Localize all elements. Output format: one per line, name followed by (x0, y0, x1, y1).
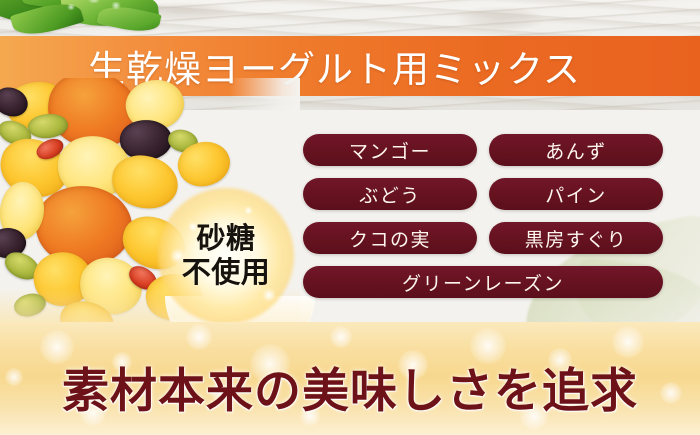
sugar-free-line-2: 不使用 (182, 256, 271, 290)
ingredient-pill-green-raisin: グリーンレーズン (303, 266, 663, 298)
bokeh-light (330, 326, 352, 348)
sugar-free-badge: 砂糖 不使用 (158, 188, 294, 324)
tagline-text: 素材本来の美味しさを追求 (0, 352, 700, 421)
ingredient-pill-goji: クコの実 (303, 222, 477, 254)
sugar-free-line-1: 砂糖 (196, 222, 255, 256)
tagline-band: 素材本来の美味しさを追求 (0, 322, 700, 435)
ingredient-list: マンゴー あんず ぶどう パイン クコの実 黒房すぐり グリーンレーズン (303, 134, 663, 298)
sugar-free-label: 砂糖 不使用 (158, 188, 294, 324)
ingredient-pill-mango: マンゴー (303, 134, 477, 166)
bokeh-light (186, 324, 212, 350)
ingredient-pill-blackcurrant: 黒房すぐり (489, 222, 663, 254)
wood-grain-knot (455, 6, 545, 32)
leaf-highlight (110, 2, 122, 9)
product-banner: 生乾燥ヨーグルト用ミックス (0, 0, 700, 435)
ingredient-pill-pineapple: パイン (489, 178, 663, 210)
ingredient-pill-apricot: あんず (489, 134, 663, 166)
ingredient-pill-grape: ぶどう (303, 178, 477, 210)
leaf-highlight (66, 4, 76, 10)
